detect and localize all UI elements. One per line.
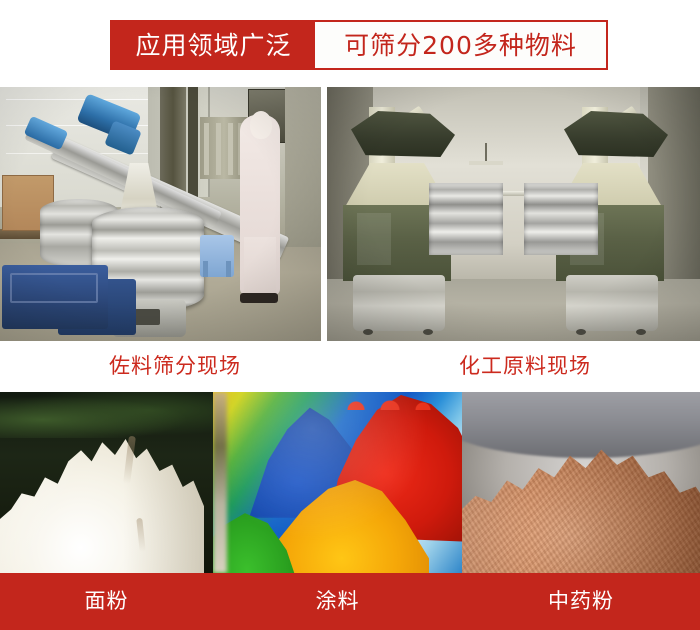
top-photo-row [0,87,700,341]
bottom-label-bar: 面粉 涂料 中药粉 [0,573,700,630]
caption-spice-sifting-site: 佐料筛分现场 [0,341,350,392]
header-tag-label: 应用领域广泛 [112,22,315,68]
header-banner: 应用领域广泛 可筛分200多种物料 [110,20,608,70]
label-chinese-medicine-powder: 中药粉 [462,573,700,630]
spice-sifting-site-photo [0,87,321,341]
chinese-medicine-powder-photo [462,392,700,573]
label-coating: 涂料 [213,573,462,630]
photo-vignette [0,87,321,341]
photo-vignette [327,87,700,341]
bowl-rim [462,392,700,458]
photo-highlight [213,392,462,573]
caption-chemical-raw-material-site: 化工原料现场 [350,341,700,392]
flour-photo [0,392,213,573]
bottom-photo-row [0,392,700,573]
coating-pigment-photo [213,392,462,573]
header-claim-label: 可筛分200多种物料 [315,22,606,68]
caption-row: 佐料筛分现场 化工原料现场 [0,341,700,392]
label-flour: 面粉 [0,573,213,630]
chemical-raw-material-site-photo [327,87,700,341]
